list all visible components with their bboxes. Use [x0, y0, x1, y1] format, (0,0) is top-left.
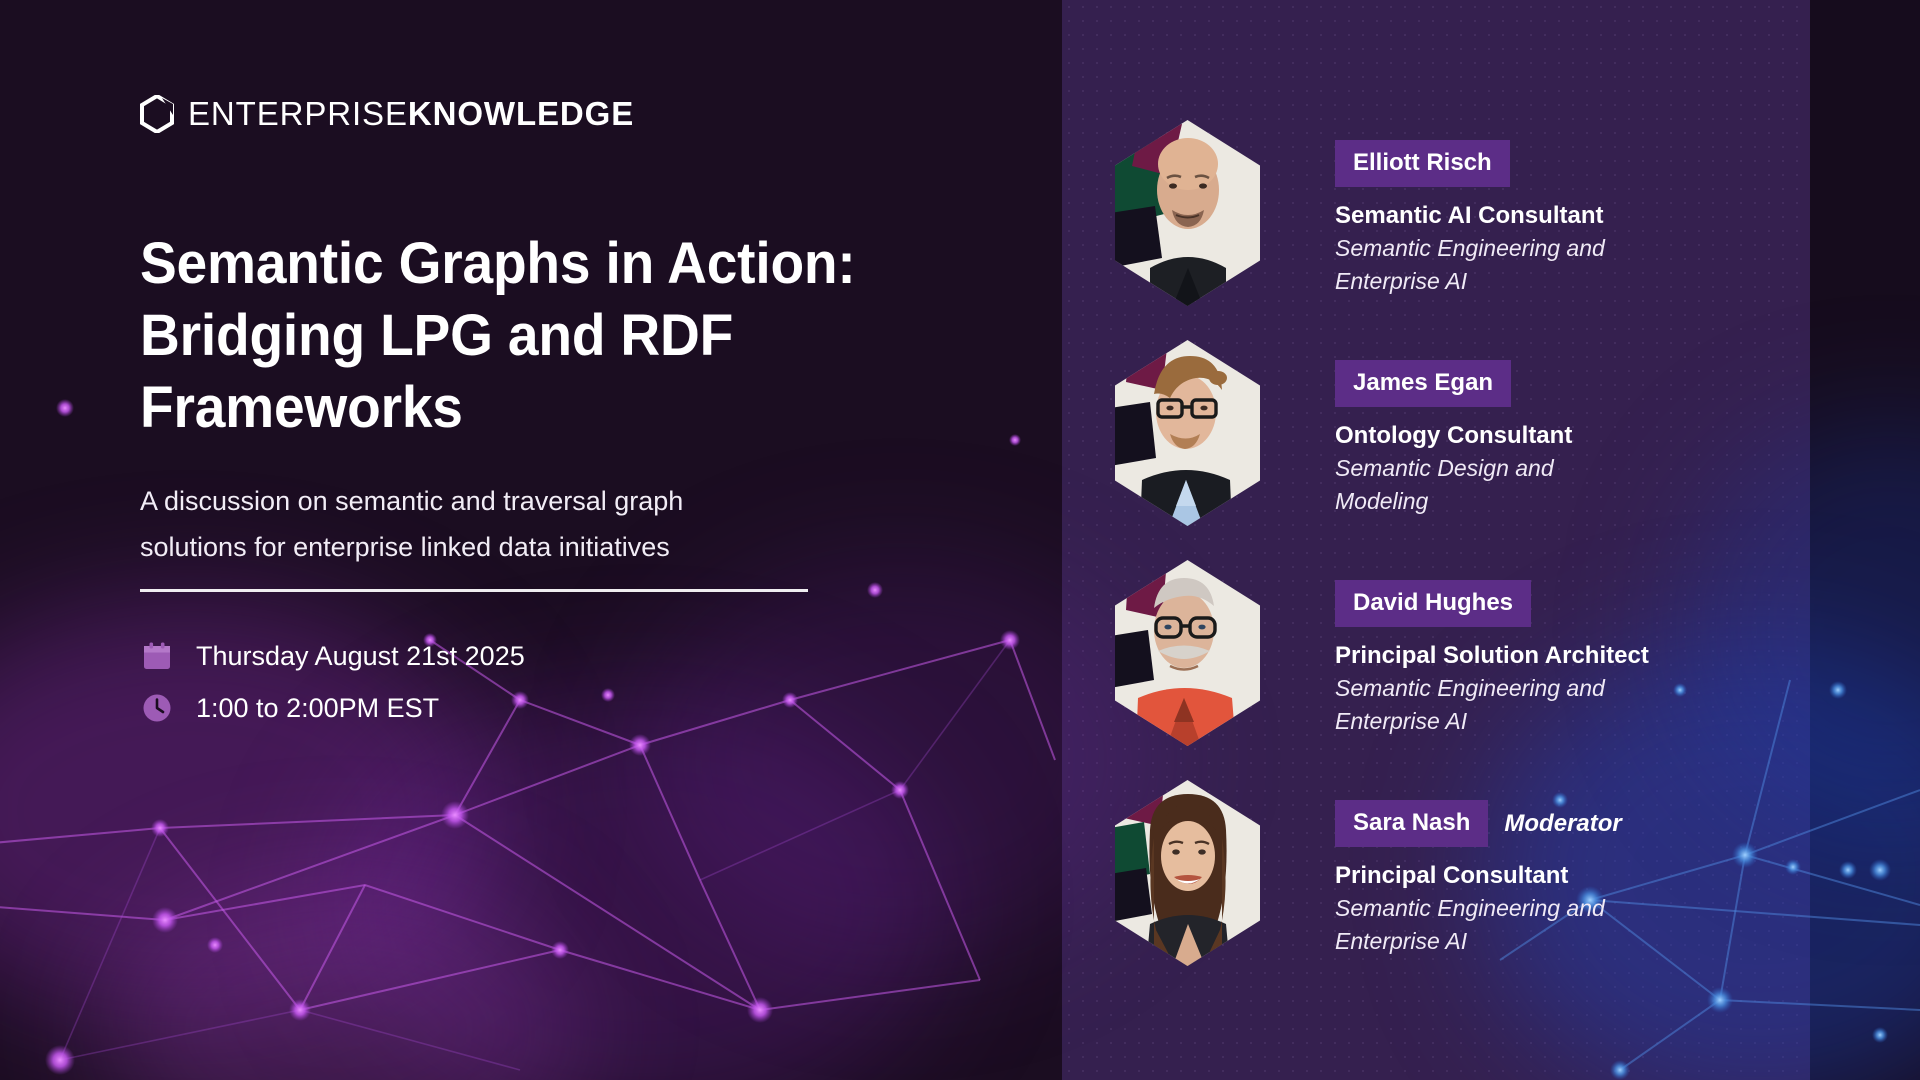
- brand-name-bold: KNOWLEDGE: [408, 95, 634, 132]
- speaker-name-row: Elliott Risch: [1335, 140, 1825, 187]
- speaker-card: James Egan Ontology Consultant Semantic …: [1110, 338, 1830, 558]
- speaker-avatar-david-hughes: [1110, 558, 1265, 748]
- brand-name: ENTERPRISEKNOWLEDGE: [188, 95, 634, 133]
- speaker-team: Semantic Engineering and Enterprise AI: [1335, 232, 1705, 298]
- speaker-team: Semantic Engineering and Enterprise AI: [1335, 892, 1705, 958]
- event-time: 1:00 to 2:00PM EST: [196, 693, 439, 724]
- speaker-role: Semantic AI Consultant: [1335, 200, 1825, 232]
- speaker-info: David Hughes Principal Solution Architec…: [1335, 580, 1825, 738]
- hero-column: ENTERPRISEKNOWLEDGE Semantic Graphs in A…: [140, 0, 1020, 1080]
- webinar-promo-graphic: ENTERPRISEKNOWLEDGE Semantic Graphs in A…: [0, 0, 1920, 1080]
- speaker-role: Principal Consultant: [1335, 860, 1825, 892]
- title-line-1: Semantic Graphs in Action:: [140, 228, 948, 300]
- speaker-role: Ontology Consultant: [1335, 420, 1825, 452]
- speaker-name-row: David Hughes: [1335, 580, 1825, 627]
- speaker-team-line-2: Enterprise AI: [1335, 705, 1705, 738]
- speaker-team-line-2: Enterprise AI: [1335, 925, 1705, 958]
- brand-logo: ENTERPRISEKNOWLEDGE: [140, 95, 634, 133]
- speaker-team: Semantic Engineering and Enterprise AI: [1335, 672, 1705, 738]
- hexagon-avatar-icon: [1110, 558, 1265, 748]
- speaker-name-row: James Egan: [1335, 360, 1825, 407]
- speaker-team-line-1: Semantic Engineering and: [1335, 892, 1705, 925]
- page-title: Semantic Graphs in Action: Bridging LPG …: [140, 228, 948, 444]
- divider-rule: [140, 589, 808, 592]
- brand-name-light: ENTERPRISE: [188, 95, 408, 132]
- subtitle-line-1: A discussion on semantic and traversal g…: [140, 478, 880, 524]
- speaker-avatar-elliott-risch: [1110, 118, 1265, 308]
- hexagon-logo-icon: [140, 95, 174, 133]
- speaker-name-badge: Elliott Risch: [1335, 140, 1510, 187]
- speaker-info: Sara Nash Moderator Principal Consultant…: [1335, 800, 1825, 958]
- speaker-name-badge: James Egan: [1335, 360, 1511, 407]
- hexagon-avatar-icon: [1110, 338, 1265, 528]
- speaker-card: David Hughes Principal Solution Architec…: [1110, 558, 1830, 778]
- speaker-list: Elliott Risch Semantic AI Consultant Sem…: [1110, 118, 1830, 998]
- event-details: Thursday August 21st 2025 1:00 to 2:00PM…: [140, 630, 525, 734]
- page-subtitle: A discussion on semantic and traversal g…: [140, 478, 880, 570]
- speaker-team: Semantic Design and Modeling: [1335, 452, 1705, 518]
- speaker-team-line-2: Modeling: [1335, 485, 1705, 518]
- speaker-name-badge: Sara Nash: [1335, 800, 1488, 847]
- speaker-name-badge: David Hughes: [1335, 580, 1531, 627]
- title-line-2: Bridging LPG and RDF: [140, 300, 948, 372]
- speaker-avatar-james-egan: [1110, 338, 1265, 528]
- hexagon-avatar-icon: [1110, 778, 1265, 968]
- speaker-card: Elliott Risch Semantic AI Consultant Sem…: [1110, 118, 1830, 338]
- speaker-team-line-2: Enterprise AI: [1335, 265, 1705, 298]
- speaker-team-line-1: Semantic Engineering and: [1335, 232, 1705, 265]
- event-date: Thursday August 21st 2025: [196, 641, 525, 672]
- event-date-row: Thursday August 21st 2025: [140, 630, 525, 682]
- speaker-team-line-1: Semantic Engineering and: [1335, 672, 1705, 705]
- hexagon-avatar-icon: [1110, 118, 1265, 308]
- speaker-name-row: Sara Nash Moderator: [1335, 800, 1825, 847]
- speaker-team-line-1: Semantic Design and: [1335, 452, 1705, 485]
- event-time-row: 1:00 to 2:00PM EST: [140, 682, 525, 734]
- title-line-3: Frameworks: [140, 372, 948, 444]
- subtitle-line-2: solutions for enterprise linked data ini…: [140, 524, 880, 570]
- speaker-role: Principal Solution Architect: [1335, 640, 1825, 672]
- speaker-info: Elliott Risch Semantic AI Consultant Sem…: [1335, 140, 1825, 298]
- speaker-info: James Egan Ontology Consultant Semantic …: [1335, 360, 1825, 518]
- speaker-card: Sara Nash Moderator Principal Consultant…: [1110, 778, 1830, 998]
- speaker-avatar-sara-nash: [1110, 778, 1265, 968]
- clock-icon: [140, 691, 174, 725]
- calendar-icon: [140, 639, 174, 673]
- moderator-tag: Moderator: [1504, 810, 1621, 838]
